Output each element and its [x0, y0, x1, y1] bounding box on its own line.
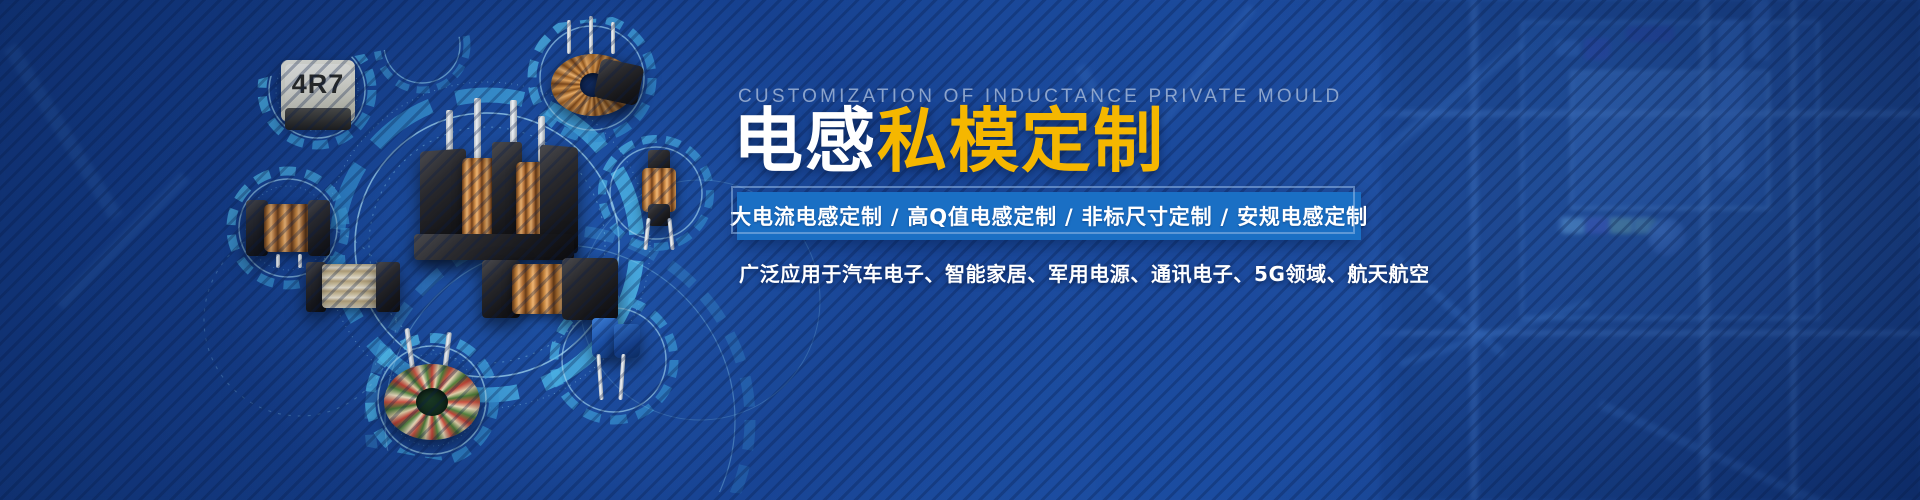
- inductance-custom-mould-banner: 4R7: [0, 0, 1920, 500]
- product-copper-coil-transformer: [482, 258, 622, 326]
- green-toroid-core: [384, 364, 480, 440]
- application-description: 广泛应用于汽车电子、智能家居、军用电源、通讯电子、5G领域、航天航空: [739, 258, 1430, 287]
- product-blue-radial-inductor: [578, 318, 648, 404]
- product-flat-wire-inductor: [306, 262, 402, 318]
- product-bobbin-wound-inductor: [246, 196, 332, 262]
- service-list-text: 大电流电感定制 / 高Q值电感定制 / 非标尺寸定制 / 安规电感定制: [730, 201, 1368, 231]
- product-toroidal-common-mode-choke: [545, 36, 645, 122]
- product-smd-power-inductor: 4R7: [281, 60, 355, 132]
- page-title: 电感私模定制: [733, 105, 1165, 179]
- headline-white-part: 电感: [733, 100, 877, 182]
- product-green-toroid-choke: [378, 336, 488, 442]
- product-axial-lead-inductor: [632, 152, 686, 248]
- smd-inductor-base: [285, 108, 351, 130]
- headline-gold-part: 私模定制: [877, 100, 1165, 182]
- smd-inductor-marking: 4R7: [281, 69, 355, 100]
- service-list-bar[interactable]: 大电流电感定制 / 高Q值电感定制 / 非标尺寸定制 / 安规电感定制: [737, 192, 1361, 240]
- product-ferrite-core-transformer: [410, 112, 580, 262]
- banner-text-content: CUSTOMIZATION OF INDUCTANCE PRIVATE MOUL…: [733, 0, 1893, 500]
